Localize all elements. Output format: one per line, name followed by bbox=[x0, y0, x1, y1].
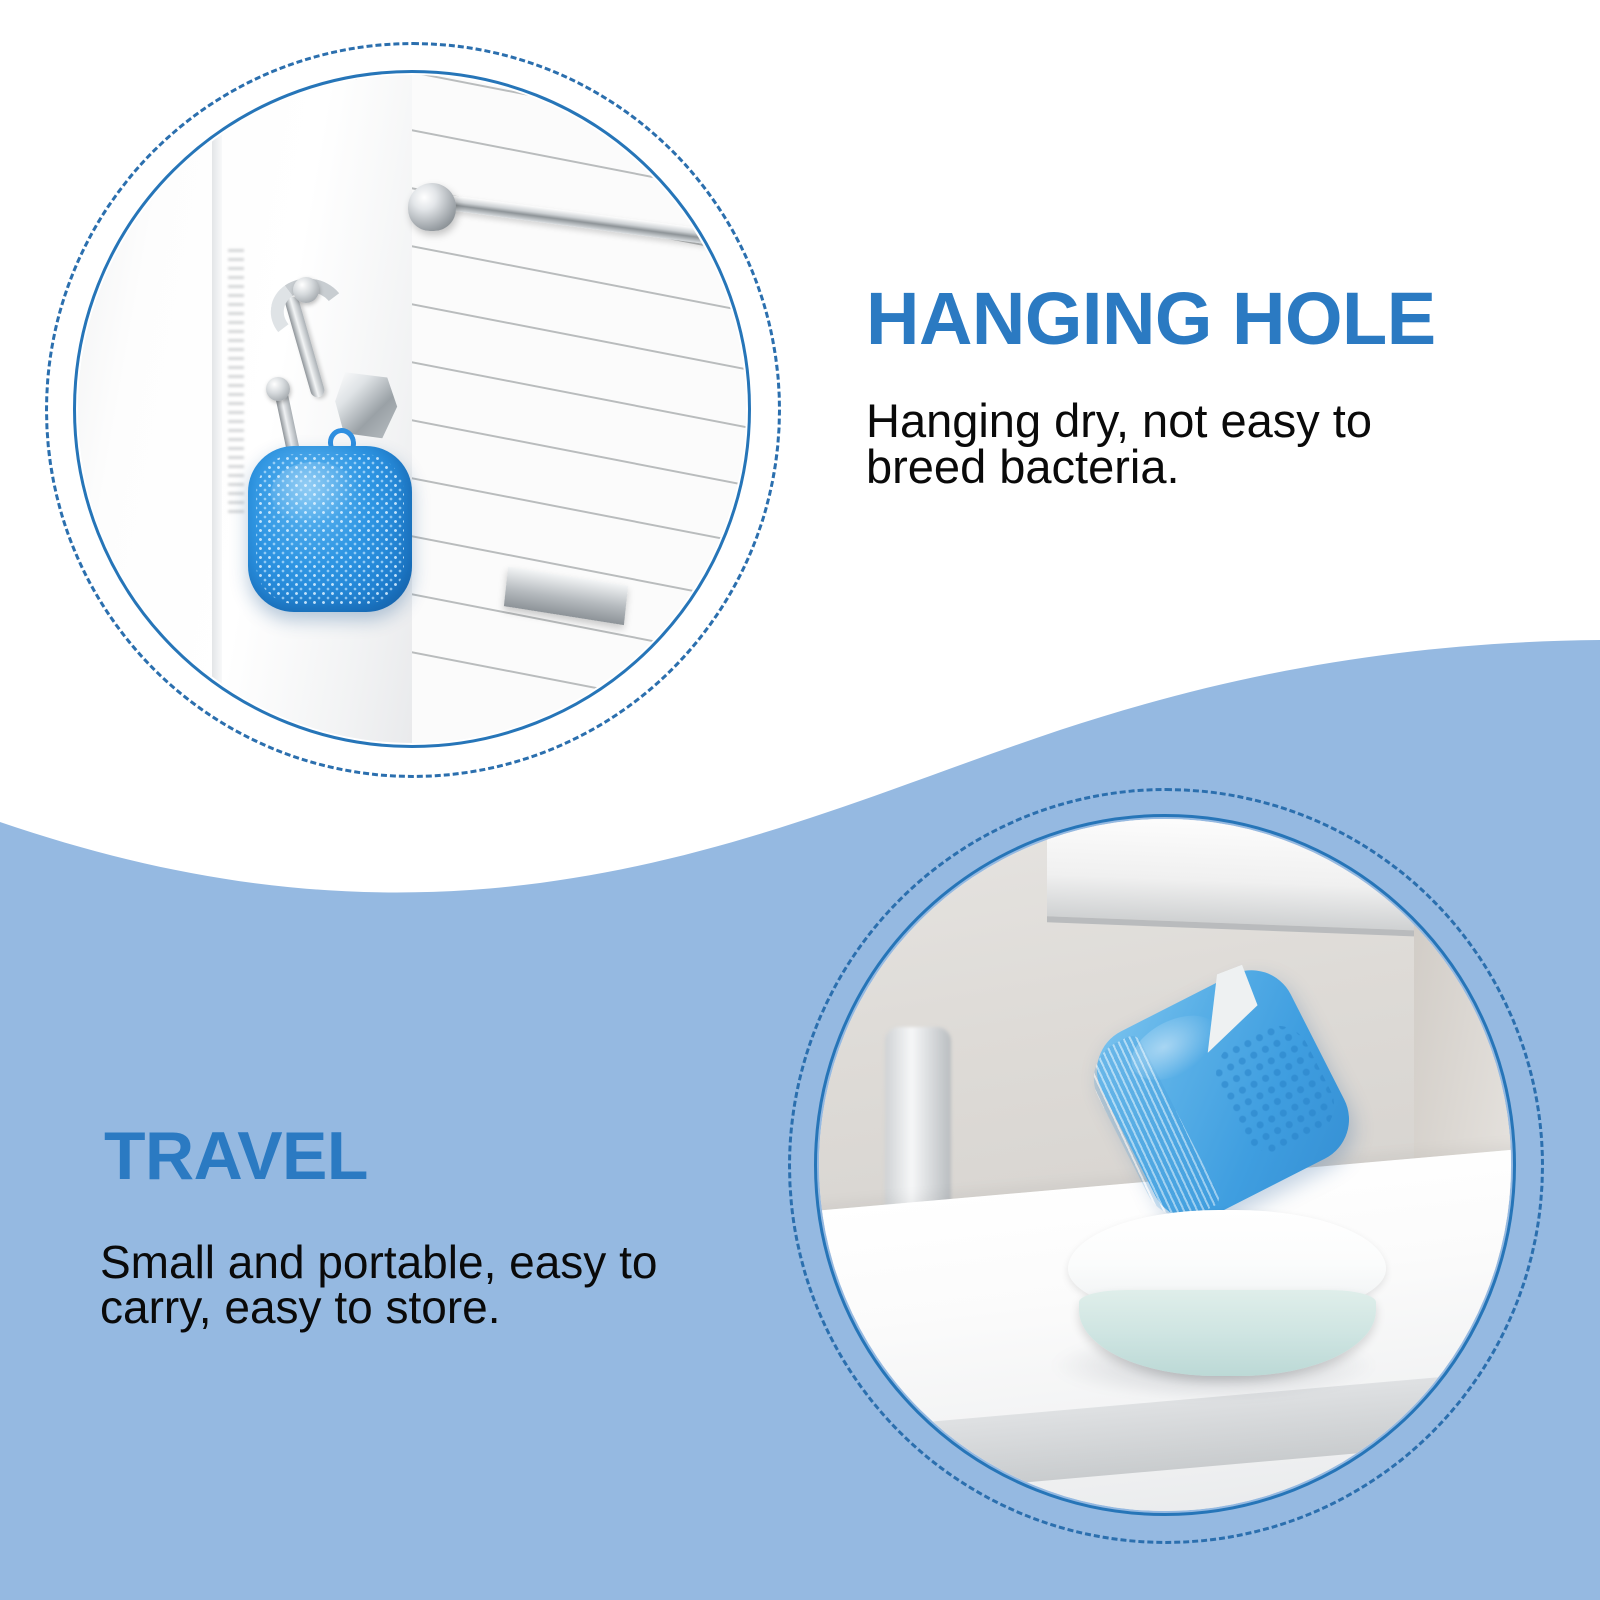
travel-photo bbox=[819, 819, 1511, 1511]
door-edge bbox=[212, 75, 222, 743]
towel-bar-mount bbox=[408, 183, 456, 231]
travel-description: Small and portable, easy to carry, easy … bbox=[100, 1240, 730, 1330]
hanging-hole-description: Hanging dry, not easy to breed bacteria. bbox=[866, 398, 1426, 490]
tile-grid bbox=[356, 75, 746, 743]
wall-cabinet bbox=[1047, 819, 1448, 937]
silicone-brush bbox=[248, 446, 412, 612]
hanging-hole-title: HANGING HOLE bbox=[866, 282, 1436, 356]
brush-highlight bbox=[271, 462, 356, 525]
door-texture bbox=[228, 249, 244, 516]
counter-soap-dish-scene bbox=[819, 819, 1511, 1511]
travel-title: TRAVEL bbox=[104, 1122, 368, 1190]
subway-tile-wall bbox=[385, 75, 746, 743]
bathroom-wall-scene bbox=[78, 75, 746, 743]
hook-ball-tip-upper bbox=[293, 277, 319, 303]
infographic-canvas: HANGING HOLE Hanging dry, not easy to br… bbox=[0, 0, 1600, 1600]
hanging-hole-photo bbox=[78, 75, 746, 743]
